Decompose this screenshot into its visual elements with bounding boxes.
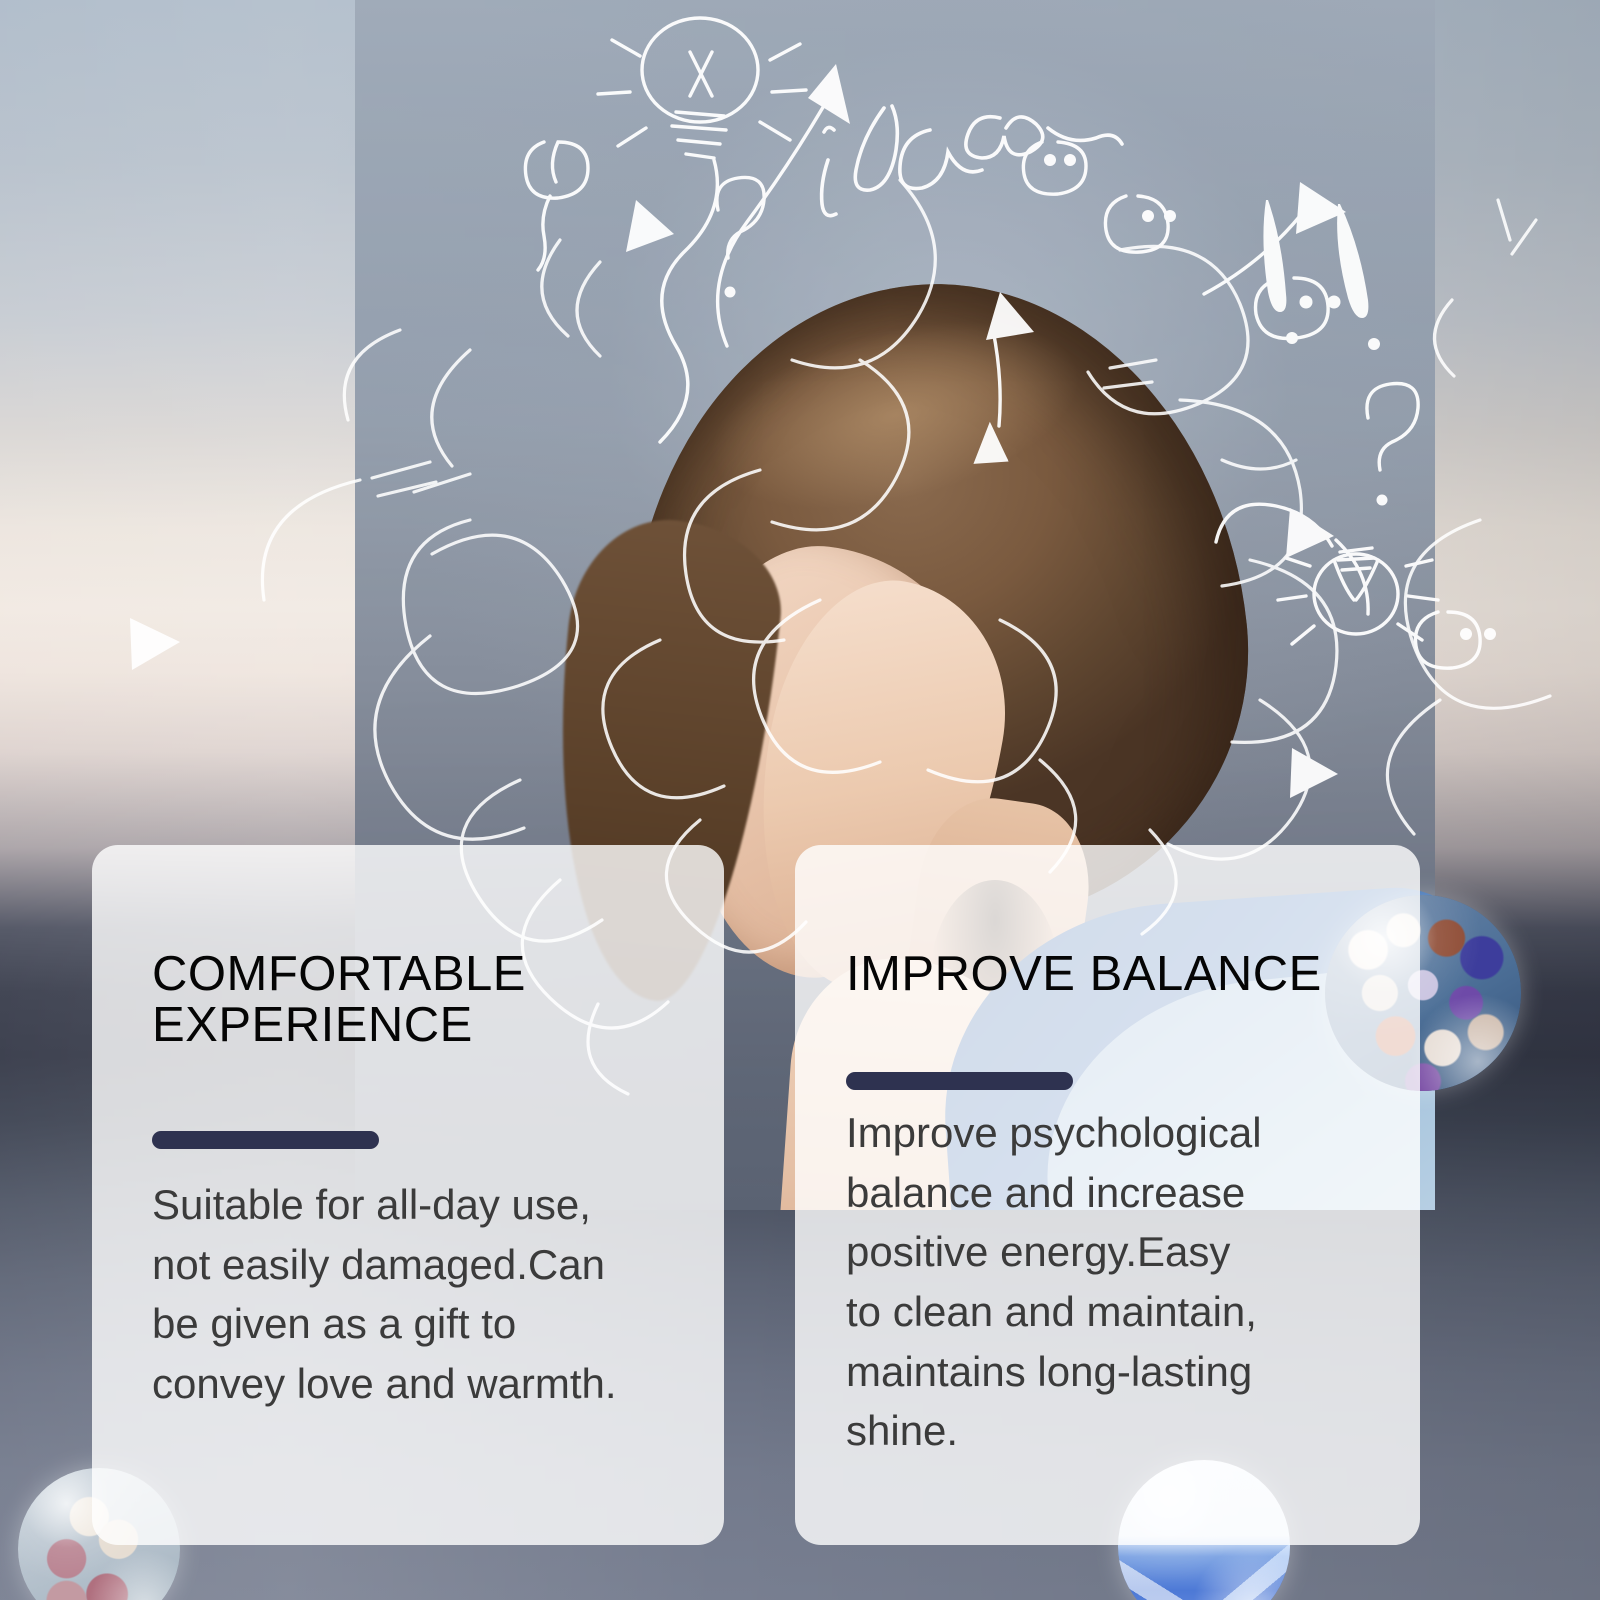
- card-title: IMPROVE BALANCE: [846, 949, 1400, 1000]
- card-body-wrap: Improve psychological balance and increa…: [846, 1103, 1400, 1461]
- card-body-wrap: Suitable for all-day use, not easily dam…: [152, 1175, 700, 1414]
- title-rule: [152, 1131, 379, 1149]
- card-body: Suitable for all-day use, not easily dam…: [152, 1175, 700, 1414]
- card-title: COMFORTABLE EXPERIENCE: [152, 949, 700, 1051]
- feature-card-improve-balance[interactable]: IMPROVE BALANCE Improve psychological ba…: [795, 845, 1420, 1545]
- card-title-wrap: IMPROVE BALANCE: [846, 949, 1400, 1000]
- card-title-wrap: COMFORTABLE EXPERIENCE: [152, 949, 700, 1051]
- poster-stage: COMFORTABLE EXPERIENCE Suitable for all-…: [0, 0, 1600, 1600]
- feature-card-comfortable-experience[interactable]: COMFORTABLE EXPERIENCE Suitable for all-…: [92, 845, 724, 1545]
- title-rule: [846, 1072, 1073, 1090]
- card-body: Improve psychological balance and increa…: [846, 1103, 1400, 1461]
